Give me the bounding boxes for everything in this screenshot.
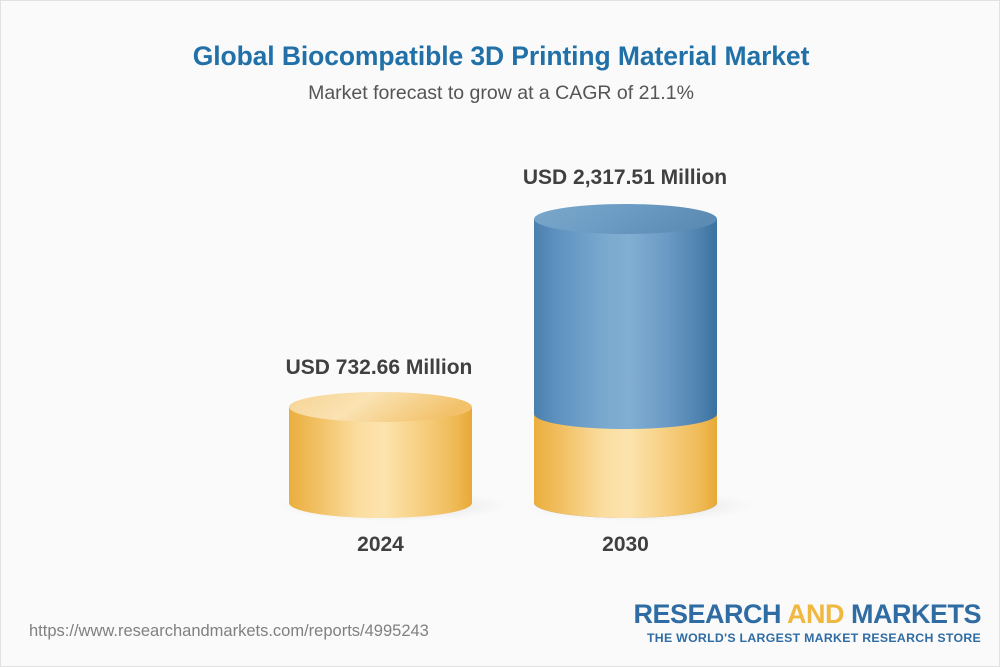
cylinder-bars-graphic	[1, 1, 1000, 667]
logo-word-research: RESEARCH	[633, 599, 781, 629]
report-url[interactable]: https://www.researchandmarkets.com/repor…	[29, 622, 429, 641]
logo-word-markets: MARKETS	[851, 599, 981, 629]
bar-value-label-2030: USD 2,317.51 Million	[435, 166, 815, 190]
logo-tagline: THE WORLD'S LARGEST MARKET RESEARCH STOR…	[633, 631, 981, 646]
chart-plot-area: USD 732.66 Million USD 2,317.51 Million …	[1, 1, 1000, 667]
chart-card: Global Biocompatible 3D Printing Materia…	[0, 0, 1000, 667]
logo-wordmark: RESEARCH AND MARKETS	[633, 599, 981, 629]
bar-2024	[289, 392, 472, 518]
bar-value-label-2024: USD 732.66 Million	[189, 356, 569, 380]
research-and-markets-logo[interactable]: RESEARCH AND MARKETS THE WORLD'S LARGEST…	[633, 599, 981, 646]
logo-word-and: AND	[781, 599, 851, 629]
bar-category-label-2024: 2024	[289, 533, 472, 557]
bar-category-label-2030: 2030	[534, 533, 717, 557]
